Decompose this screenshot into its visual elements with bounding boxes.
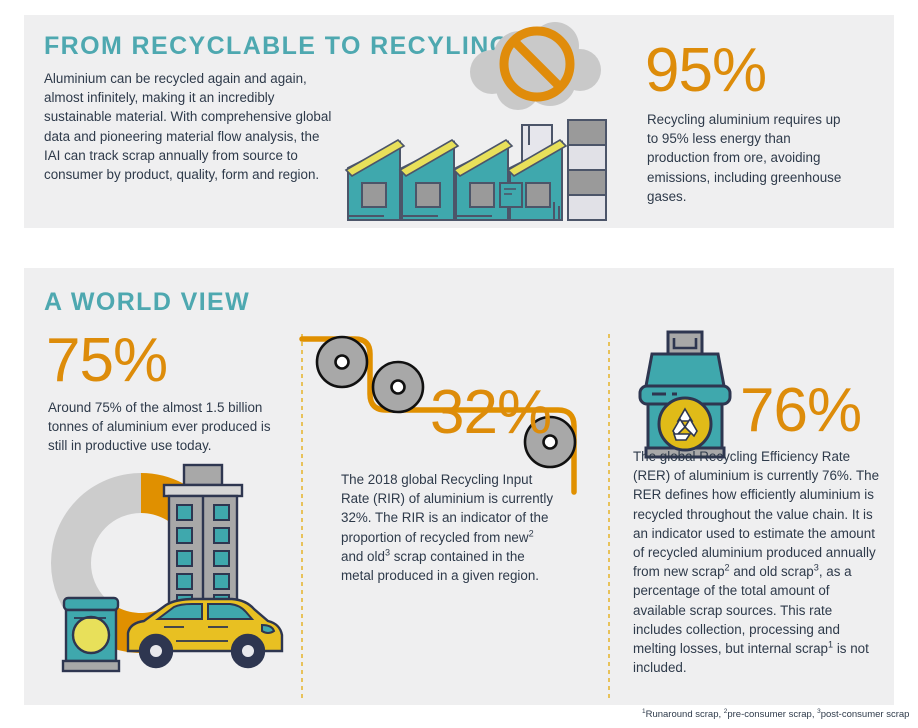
stat-value-95: 95% — [645, 40, 766, 102]
stat-value-75: 75% — [46, 330, 167, 392]
stat-caption-75: Around 75% of the almost 1.5 billion ton… — [48, 398, 293, 456]
factory-with-no-emissions-icon — [340, 20, 630, 220]
footnote-scrap-definitions: 1Runaround scrap, 2pre-consumer scrap, 3… — [642, 709, 909, 720]
stat-value-32: 32% — [430, 382, 551, 444]
stat-caption-95: Recycling aluminium requires up to 95% l… — [647, 110, 847, 206]
recycling-bin-icon — [630, 330, 748, 462]
stat-value-76: 76% — [740, 380, 861, 442]
section-heading-world-view: A WORLD VIEW — [44, 288, 250, 317]
stat-caption-76: The global Recycling Efficiency Rate (RE… — [633, 447, 883, 677]
donut-chart-with-building-car-can — [36, 455, 286, 680]
section-top-paragraph: Aluminium can be recycled again and agai… — [44, 69, 332, 184]
stat-caption-32: The 2018 global Recycling Input Rate (RI… — [341, 470, 556, 585]
column-divider-right — [608, 334, 610, 698]
